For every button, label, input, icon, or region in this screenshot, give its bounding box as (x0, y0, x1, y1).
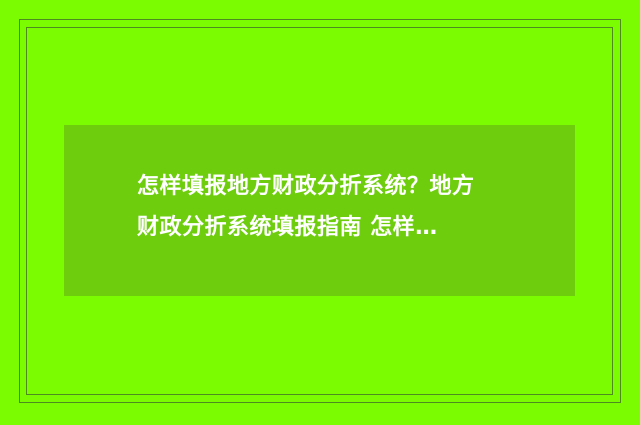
caption-line-1: 怎样填报地方财政分折系统？地方 (137, 166, 557, 207)
caption-text-block: 怎样填报地方财政分折系统？地方 财政分折系统填报指南 怎样… (137, 166, 557, 248)
caption-line-2: 财政分折系统填报指南 怎样… (137, 207, 557, 248)
title-card-canvas: 怎样填报地方财政分折系统？地方 财政分折系统填报指南 怎样… (0, 0, 640, 425)
